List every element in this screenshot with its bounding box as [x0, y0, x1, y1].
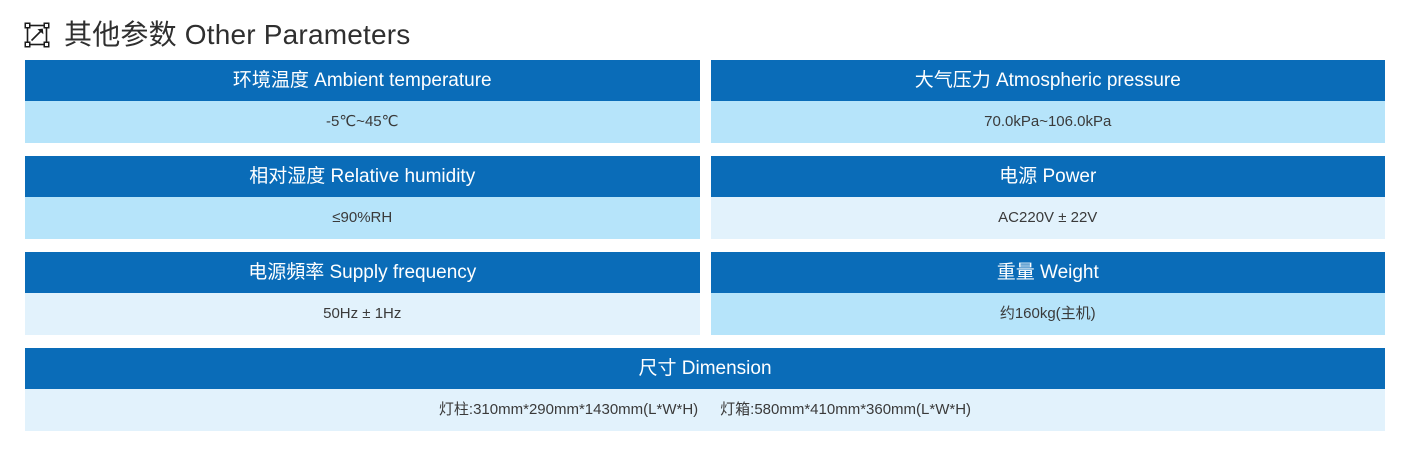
- param-value: 约160kg(主机): [711, 293, 1386, 335]
- param-header: 尺寸 Dimension: [25, 348, 1385, 389]
- param-header: 电源頻率 Supply frequency: [25, 252, 700, 293]
- param-cell-atmospheric-pressure: 大气压力 Atmospheric pressure 70.0kPa~106.0k…: [711, 60, 1386, 143]
- param-cell-relative-humidity: 相对湿度 Relative humidity ≤90%RH: [25, 156, 700, 239]
- dimension-part-pillar: 灯柱:310mm*290mm*1430mm(L*W*H): [439, 389, 698, 431]
- param-value: ≤90%RH: [25, 197, 700, 239]
- page-title: 其他参数 Other Parameters: [0, 0, 1415, 54]
- param-cell-ambient-temperature: 环境温度 Ambient temperature -5℃~45℃: [25, 60, 700, 143]
- dimension-resize-icon: [24, 22, 50, 48]
- table-row: 尺寸 Dimension 灯柱:310mm*290mm*1430mm(L*W*H…: [25, 348, 1385, 431]
- dimension-part-lightbox: 灯箱:580mm*410mm*360mm(L*W*H): [720, 389, 971, 431]
- param-header: 重量 Weight: [711, 252, 1386, 293]
- param-cell-weight: 重量 Weight 约160kg(主机): [711, 252, 1386, 335]
- param-value: 70.0kPa~106.0kPa: [711, 101, 1386, 143]
- param-value: AC220V ± 22V: [711, 197, 1386, 239]
- other-parameters-panel: 其他参数 Other Parameters 环境温度 Ambient tempe…: [0, 0, 1415, 463]
- param-cell-power: 电源 Power AC220V ± 22V: [711, 156, 1386, 239]
- page-title-text: 其他参数 Other Parameters: [64, 20, 411, 50]
- param-header: 电源 Power: [711, 156, 1386, 197]
- param-value: -5℃~45℃: [25, 101, 700, 143]
- parameters-table: 环境温度 Ambient temperature -5℃~45℃ 大气压力 At…: [25, 60, 1385, 431]
- param-value: 灯柱:310mm*290mm*1430mm(L*W*H)灯箱:580mm*410…: [25, 389, 1385, 431]
- param-header: 大气压力 Atmospheric pressure: [711, 60, 1386, 101]
- param-value: 50Hz ± 1Hz: [25, 293, 700, 335]
- table-row: 电源頻率 Supply frequency 50Hz ± 1Hz 重量 Weig…: [25, 252, 1385, 335]
- param-header: 相对湿度 Relative humidity: [25, 156, 700, 197]
- table-row: 环境温度 Ambient temperature -5℃~45℃ 大气压力 At…: [25, 60, 1385, 143]
- param-cell-dimension: 尺寸 Dimension 灯柱:310mm*290mm*1430mm(L*W*H…: [25, 348, 1385, 431]
- param-header: 环境温度 Ambient temperature: [25, 60, 700, 101]
- table-row: 相对湿度 Relative humidity ≤90%RH 电源 Power A…: [25, 156, 1385, 239]
- param-cell-supply-frequency: 电源頻率 Supply frequency 50Hz ± 1Hz: [25, 252, 700, 335]
